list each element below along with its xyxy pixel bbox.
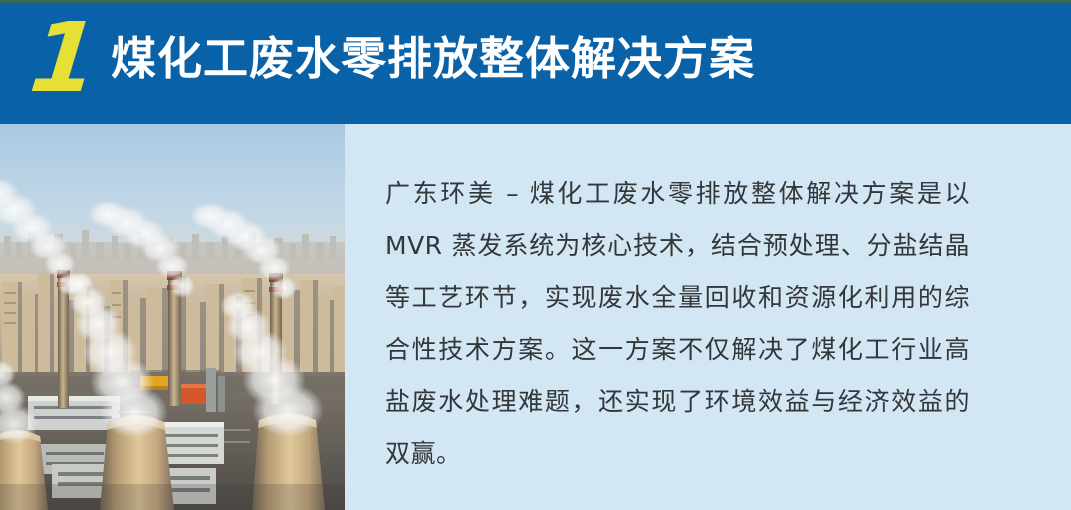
header-top-divider	[0, 0, 1071, 3]
header-banner: 1 煤化工废水零排放整体解决方案	[0, 0, 1071, 124]
slide-page: 1 煤化工废水零排放整体解决方案	[0, 0, 1071, 510]
photo-illustration	[0, 124, 345, 510]
description-paragraph: 广东环美 – 煤化工废水零排放整体解决方案是以 MVR 蒸发系统为核心技术，结合…	[385, 168, 970, 480]
page-title: 煤化工废水零排放整体解决方案	[111, 33, 755, 85]
section-number: 1	[26, 10, 101, 106]
power-plant-photo	[0, 124, 345, 510]
